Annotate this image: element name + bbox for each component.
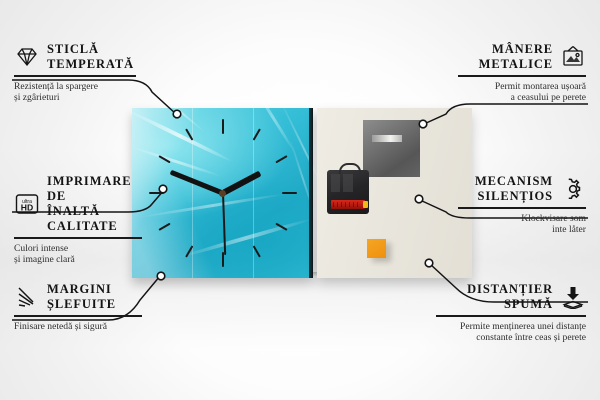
callout-title: MARGINI ȘLEFUITE (47, 282, 116, 312)
callout-rule (14, 237, 142, 239)
clock-center-cap (219, 190, 226, 197)
callout-title: STICLĂ TEMPERATĂ (47, 42, 134, 72)
product-photo (132, 108, 472, 278)
clock-mechanism (327, 170, 369, 214)
callout-rule (458, 75, 586, 77)
callout-manere-metalice: MÂNERE METALICE Permit montarea ușoară a… (458, 42, 586, 104)
callout-subtitle: Permit montarea ușoară a ceasului pe per… (458, 81, 586, 104)
callout-rule (436, 315, 586, 317)
diamond-icon (14, 45, 40, 69)
callout-subtitle: Finisare netedă și sigură (14, 321, 142, 333)
picture-frame-icon (560, 45, 586, 69)
infographic-canvas: STICLĂ TEMPERATĂ Rezistență la spargere … (0, 0, 600, 400)
callout-subtitle: Permite menținerea unei distanțe constan… (436, 321, 586, 344)
callout-rule (14, 315, 142, 317)
callout-subtitle: Culori intense și imagine clară (14, 243, 142, 266)
battery (331, 200, 365, 209)
callout-rule (14, 75, 136, 77)
polished-edges-icon (14, 285, 40, 309)
foam-spacer (367, 239, 386, 258)
gear-icon (560, 177, 586, 201)
callout-title: DISTANȚIER SPUMĂ (467, 282, 553, 312)
callout-title: MECANISM SILENȚIOS (475, 174, 553, 204)
back-panel (317, 108, 472, 278)
callout-margini-slefuite: MARGINI ȘLEFUITE Finisare netedă și sigu… (14, 282, 142, 332)
down-arrow-pad-icon (560, 285, 586, 309)
callout-rule (458, 207, 586, 209)
callout-imprimare-inalta-calitate: ultra HD IMPRIMARE DE ÎNALTĂ CALITATE Cu… (14, 174, 142, 266)
callout-distantier-spuma: DISTANȚIER SPUMĂ Permite menținerea unei… (436, 282, 586, 344)
ultra-hd-icon: ultra HD (14, 192, 40, 216)
callout-subtitle: Rezistență la spargere și zgârieturi (14, 81, 136, 104)
hanger-loop (339, 163, 361, 174)
clock-face (132, 108, 313, 278)
metal-hanger-plate (363, 120, 420, 177)
callout-mecanism-silentios: MECANISM SILENȚIOS Klockvisare som inte … (458, 174, 586, 236)
svg-text:HD: HD (21, 203, 33, 213)
callout-title: MÂNERE METALICE (479, 42, 553, 72)
callout-sticla-temperata: STICLĂ TEMPERATĂ Rezistență la spargere … (14, 42, 136, 104)
callout-title: IMPRIMARE DE ÎNALTĂ CALITATE (47, 174, 142, 234)
callout-subtitle: Klockvisare som inte låter (458, 213, 586, 236)
